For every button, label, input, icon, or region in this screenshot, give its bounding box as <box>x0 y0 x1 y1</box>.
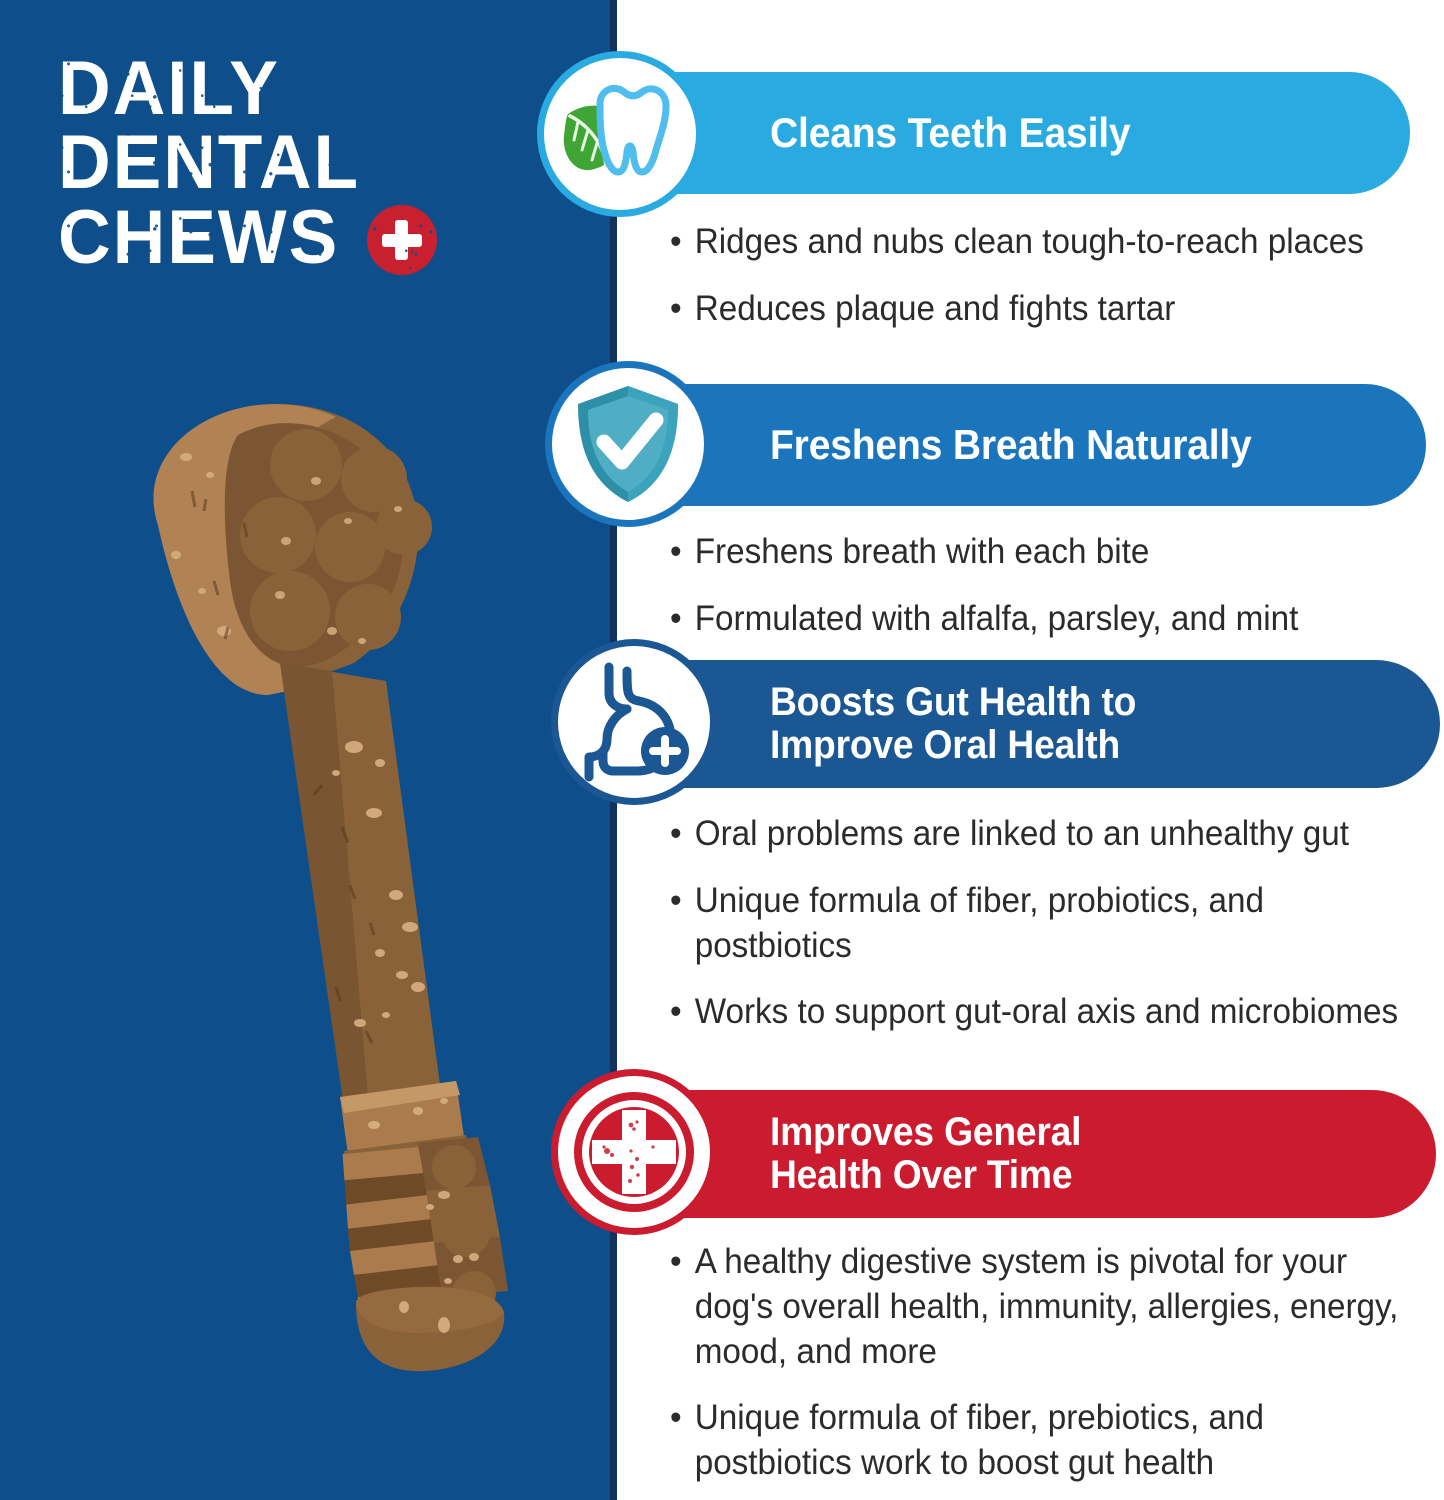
feature-heading: Improves General Health Over Time <box>770 1111 1081 1197</box>
bullet-marker: • <box>670 1240 695 1374</box>
bullet-text: A healthy digestive system is pivotal fo… <box>695 1240 1421 1374</box>
bullet-text: Reduces plaque and fights tartar <box>695 287 1421 332</box>
feature-banner: Freshens Breath Naturally <box>600 384 1426 506</box>
list-item: • Formulated with alfalfa, parsley, and … <box>670 597 1421 642</box>
features-list: Cleans Teeth Easily <box>540 0 1444 1500</box>
dog-dental-chew-illustration <box>118 395 538 1375</box>
list-item: • A healthy digestive system is pivotal … <box>670 1240 1421 1374</box>
feature-bullets: • Freshens breath with each bite • Formu… <box>670 530 1444 664</box>
bullet-text: Ridges and nubs clean tough-to-reach pla… <box>695 220 1421 265</box>
feature-bullets: • Oral problems are linked to an unhealt… <box>670 812 1444 1057</box>
stomach-plus-icon <box>558 646 710 798</box>
tooth-mint-icon <box>544 58 696 210</box>
medical-cross-icon <box>367 205 437 275</box>
feature-general-health: Improves General Health Over Time <box>540 1082 1444 1224</box>
list-item: • Unique formula of fiber, prebiotics, a… <box>670 1396 1421 1486</box>
feature-bullets: • Ridges and nubs clean tough-to-reach p… <box>670 220 1444 354</box>
feature-banner: Cleans Teeth Easily <box>600 72 1410 194</box>
bullet-marker: • <box>670 812 695 857</box>
bullet-marker: • <box>670 220 695 265</box>
bullet-text: Works to support gut-oral axis and micro… <box>695 990 1421 1035</box>
title-line-1: DAILY <box>58 52 519 126</box>
chew-shaft <box>280 663 464 1155</box>
feature-heading: Freshens Breath Naturally <box>770 423 1252 467</box>
bullet-marker: • <box>670 879 695 969</box>
bullet-text: Oral problems are linked to an unhealthy… <box>695 812 1421 857</box>
feature-heading: Cleans Teeth Easily <box>770 111 1130 155</box>
title-line-3: CHEWS <box>58 201 339 275</box>
bullet-marker: • <box>670 287 695 332</box>
list-item: • Ridges and nubs clean tough-to-reach p… <box>670 220 1421 265</box>
plus-badge <box>641 727 689 775</box>
list-item: • Works to support gut-oral axis and mic… <box>670 990 1421 1035</box>
feature-banner: Boosts Gut Health to Improve Oral Health <box>600 660 1440 788</box>
feature-freshens-breath: Freshens Breath Naturally • Freshens bre… <box>540 372 1444 514</box>
chew-ridges <box>334 1135 508 1371</box>
list-item: • Unique formula of fiber, probiotics, a… <box>670 879 1421 969</box>
medical-cross-icon <box>558 1076 710 1228</box>
feature-heading: Boosts Gut Health to Improve Oral Health <box>770 681 1136 767</box>
chew-head <box>154 404 432 695</box>
title-line-2: DENTAL <box>58 126 519 200</box>
feature-bullets: • A healthy digestive system is pivotal … <box>670 1240 1444 1500</box>
feature-banner-row: Improves General Health Over Time <box>540 1082 1444 1224</box>
cross-glyph <box>382 220 422 260</box>
bullet-text: Unique formula of fiber, prebiotics, and… <box>695 1396 1421 1486</box>
shield-check-icon <box>552 368 704 520</box>
feature-banner: Improves General Health Over Time <box>600 1090 1436 1218</box>
bullet-text: Freshens breath with each bite <box>695 530 1421 575</box>
bullet-marker: • <box>670 1396 695 1486</box>
tooth-glyph <box>600 88 666 172</box>
bullet-marker: • <box>670 597 695 642</box>
feature-banner-row: Boosts Gut Health to Improve Oral Health <box>540 652 1444 794</box>
bullet-marker: • <box>670 530 695 575</box>
list-item: • Reduces plaque and fights tartar <box>670 287 1421 332</box>
list-item: • Oral problems are linked to an unhealt… <box>670 812 1421 857</box>
bullet-text: Unique formula of fiber, probiotics, and… <box>695 879 1421 969</box>
feature-banner-row: Freshens Breath Naturally <box>540 372 1444 514</box>
bullet-marker: • <box>670 990 695 1035</box>
list-item: • Freshens breath with each bite <box>670 530 1421 575</box>
bullet-text: Formulated with alfalfa, parsley, and mi… <box>695 597 1421 642</box>
product-infographic: DAILY DENTAL CHEWS <box>0 0 1444 1500</box>
title-row-3: CHEWS <box>58 199 538 275</box>
page-title: DAILY DENTAL CHEWS <box>58 52 538 275</box>
feature-cleans-teeth: Cleans Teeth Easily <box>540 60 1444 202</box>
feature-banner-row: Cleans Teeth Easily <box>540 60 1444 202</box>
feature-gut-health: Boosts Gut Health to Improve Oral Health <box>540 652 1444 794</box>
